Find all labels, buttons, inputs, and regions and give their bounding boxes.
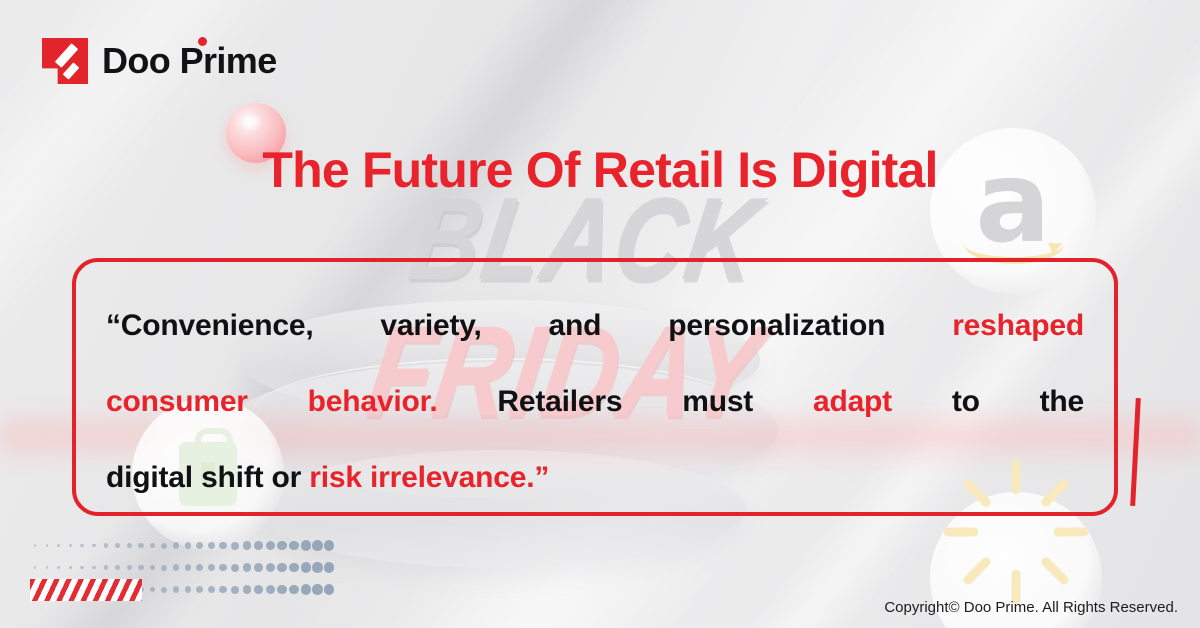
grid-dot	[219, 564, 227, 572]
grid-dot	[104, 565, 108, 569]
grid-dot	[231, 564, 239, 572]
grid-dot	[301, 540, 311, 550]
grid-dot	[254, 563, 263, 572]
grid-dot	[127, 565, 132, 570]
quote-line-2: consumer behavior. Retailers must adapt …	[106, 364, 1084, 440]
grid-dot	[219, 542, 227, 550]
grid-dot	[138, 565, 143, 570]
grid-dot	[92, 566, 96, 570]
grid-dot	[208, 586, 215, 593]
quote-l2-plain-b: must	[682, 385, 753, 418]
brand-logo[interactable]: Doo Prime	[42, 38, 277, 84]
grid-dot	[127, 543, 132, 548]
grid-dot	[115, 543, 120, 548]
grid-dot	[46, 544, 49, 547]
grid-dot	[266, 541, 275, 550]
grid-dot	[34, 544, 36, 546]
grid-dot	[289, 541, 299, 551]
grid-dot	[150, 543, 156, 549]
grid-dot	[173, 564, 179, 570]
grid-dot	[254, 585, 263, 594]
grid-dot	[150, 587, 156, 593]
grid-dot	[324, 584, 335, 595]
grid-dot	[69, 544, 72, 547]
grid-dot	[266, 585, 275, 594]
grid-dot	[69, 566, 72, 569]
quote-l3-highlight: risk irrelevance.”	[309, 461, 549, 494]
grid-dot	[196, 564, 203, 571]
dot-grid-row	[34, 539, 335, 552]
grid-dot	[196, 542, 203, 549]
grid-dot	[243, 585, 251, 593]
grid-dot	[277, 563, 286, 572]
grid-dot	[312, 540, 323, 551]
logo-accent-dot	[198, 37, 207, 46]
grid-dot	[301, 584, 311, 594]
copyright-text: Copyright© Doo Prime. All Rights Reserve…	[884, 599, 1178, 616]
grid-dot	[161, 587, 167, 593]
grid-dot	[266, 563, 275, 572]
grid-dot	[34, 566, 36, 568]
grid-dot	[231, 542, 239, 550]
grid-dot	[277, 541, 286, 550]
quote-l1-plain: “Convenience, variety, and personalizati…	[106, 309, 885, 342]
grid-dot	[115, 565, 120, 570]
grid-dot	[104, 543, 108, 547]
quote-l1-highlight: reshaped	[952, 309, 1084, 342]
grid-dot	[277, 585, 286, 594]
grid-dot	[231, 586, 239, 594]
grid-dot	[150, 565, 156, 571]
quote-l2-plain-a: Retailers	[497, 385, 622, 418]
quote-l2-plain-d: the	[1040, 385, 1084, 418]
grid-dot	[173, 586, 179, 592]
brand-name-text: Doo Prime	[102, 40, 277, 81]
grid-dot	[196, 586, 203, 593]
grid-dot	[138, 543, 143, 548]
grid-dot	[57, 544, 60, 547]
grid-dot	[312, 584, 323, 595]
grid-dot	[324, 562, 335, 573]
quote-l2-plain-c: to	[952, 385, 980, 418]
grid-dot	[57, 566, 60, 569]
grid-dot	[46, 566, 49, 569]
promo-banner-canvas: BLACK FRIDAY a	[0, 0, 1200, 628]
amazon-smile-tip	[1048, 238, 1065, 254]
quote-l2-highlight-a: consumer behavior.	[106, 385, 438, 418]
grid-dot	[161, 543, 167, 549]
red-stripe-bar	[30, 579, 142, 601]
grid-dot	[208, 542, 215, 549]
grid-dot	[301, 562, 311, 572]
grid-dot	[185, 564, 192, 571]
grid-dot	[289, 563, 299, 573]
grid-dot	[243, 563, 251, 571]
doo-prime-logo-mark	[42, 38, 88, 84]
grid-dot	[219, 586, 227, 594]
grid-dot	[243, 541, 251, 549]
dot-grid-row	[34, 561, 335, 574]
quote-text: “Convenience, variety, and personalizati…	[106, 288, 1084, 516]
grid-dot	[312, 562, 323, 573]
grid-dot	[173, 542, 179, 548]
quote-line-3: digital shift or risk irrelevance.”	[106, 440, 1084, 516]
grid-dot	[185, 586, 192, 593]
grid-dot	[92, 544, 96, 548]
grid-dot	[289, 585, 299, 595]
grid-dot	[324, 540, 335, 551]
quote-line-1: “Convenience, variety, and personalizati…	[106, 288, 1084, 364]
red-accent-slash	[1130, 398, 1141, 506]
brand-name: Doo Prime	[102, 40, 277, 82]
grid-dot	[80, 566, 84, 570]
quote-l3-plain: digital shift or	[106, 461, 301, 494]
grid-dot	[254, 541, 263, 550]
grid-dot	[80, 544, 84, 548]
quote-callout-box: “Convenience, variety, and personalizati…	[72, 258, 1118, 516]
page-title: The Future Of Retail Is Digital	[0, 143, 1200, 198]
grid-dot	[161, 565, 167, 571]
grid-dot	[185, 542, 192, 549]
quote-l2-highlight-b: adapt	[813, 385, 892, 418]
grid-dot	[208, 564, 215, 571]
